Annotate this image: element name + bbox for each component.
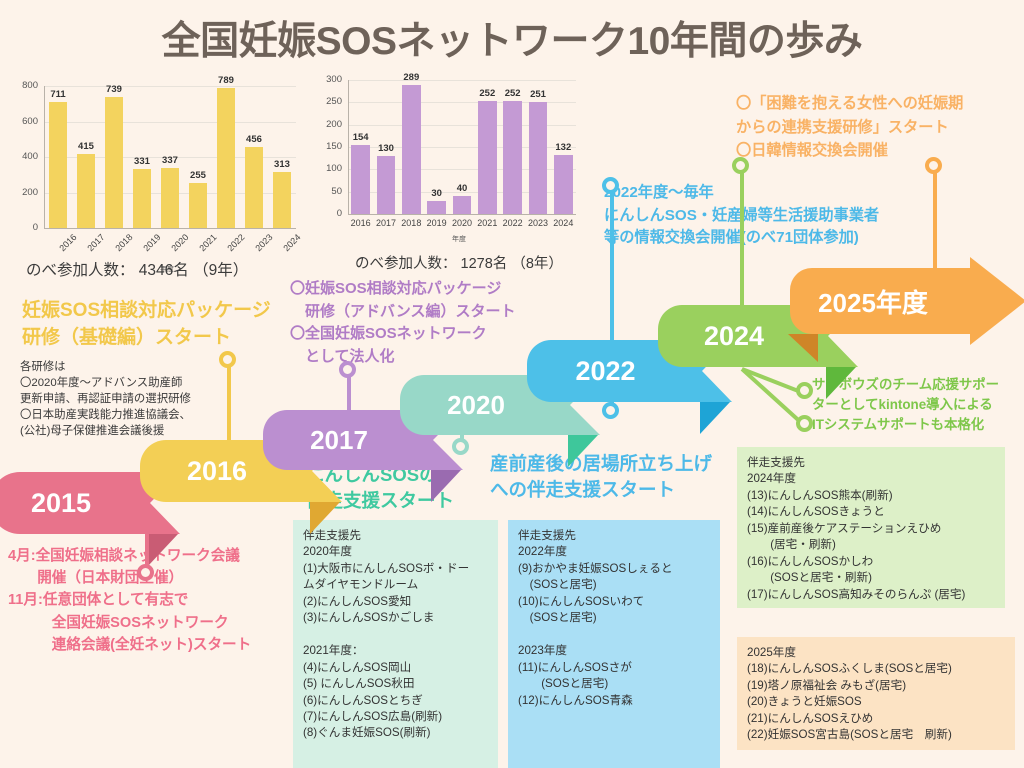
timeline-step-label: 2024 bbox=[704, 321, 782, 352]
ribbon-fold bbox=[826, 367, 856, 399]
timeline-step-label: 2017 bbox=[310, 425, 386, 456]
ribbon-fold bbox=[310, 502, 340, 534]
ribbon-fold bbox=[568, 435, 598, 467]
ribbon-fold bbox=[148, 534, 178, 566]
ribbon-fold bbox=[700, 402, 730, 434]
timeline-step-label: 2016 bbox=[187, 456, 265, 487]
timeline-step-2025年度[interactable]: 2025年度 bbox=[790, 268, 970, 334]
timeline-step-label: 2020 bbox=[447, 390, 523, 421]
timeline-ribbon: 2015201620172020202220242025年度 bbox=[0, 0, 1024, 768]
ribbon-arrow-head bbox=[970, 257, 1024, 345]
ribbon-fold bbox=[431, 470, 461, 502]
timeline-step-label: 2015 bbox=[31, 488, 109, 519]
ribbon-fold bbox=[788, 334, 818, 362]
timeline-step-2015[interactable]: 2015 bbox=[0, 472, 150, 534]
timeline-step-label: 2022 bbox=[575, 356, 653, 387]
timeline-step-label: 2025年度 bbox=[818, 283, 942, 320]
